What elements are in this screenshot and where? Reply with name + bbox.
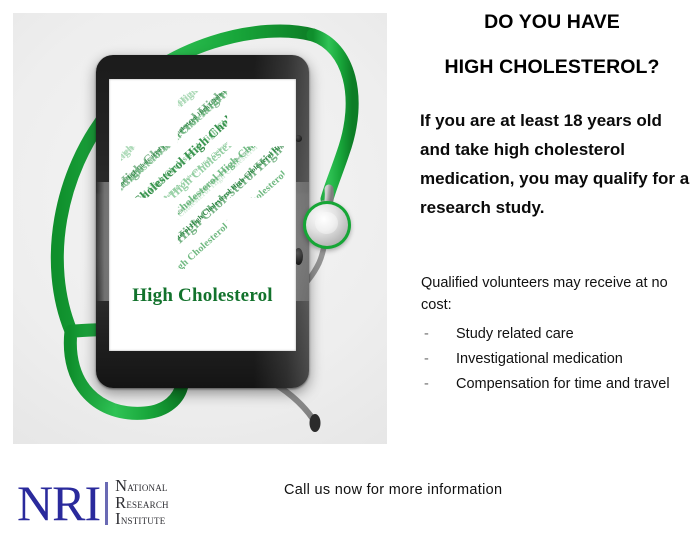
stethoscope-earpiece (310, 414, 321, 432)
stethoscope-chestpiece (303, 201, 351, 249)
headline-line-1: DO YOU HAVE (404, 11, 700, 34)
logo-word-institute: Institute (115, 511, 169, 528)
headline-line-2: HIGH CHOLESTEROL? (404, 56, 700, 79)
logo-divider (105, 482, 108, 525)
chestpiece-dome (315, 212, 337, 234)
word-cloud-cross-clip: High Cholesterol High Cholesterol High C… (121, 91, 285, 269)
tablet-camera-dot (295, 135, 302, 142)
call-to-action-text: Call us now for more information (284, 482, 502, 498)
poster-copy: DO YOU HAVE HIGH CHOLESTEROL? If you are… (404, 0, 700, 460)
benefit-label: Compensation for time and travel (456, 376, 670, 392)
benefits-subheading: Qualified volunteers may receive at no c… (421, 272, 696, 316)
benefits-list: -Study related care-Investigational medi… (421, 322, 696, 397)
benefit-item: -Compensation for time and travel (421, 372, 696, 397)
benefit-dash-icon: - (424, 372, 429, 397)
logo-wordmark: National Research Institute (115, 478, 169, 528)
tablet-device: High Cholesterol High Cholesterol High C… (96, 55, 309, 388)
screen-caption: High Cholesterol (109, 285, 296, 307)
benefit-dash-icon: - (424, 347, 429, 372)
benefit-dash-icon: - (424, 322, 429, 347)
benefit-label: Study related care (456, 326, 574, 342)
tablet-screen: High Cholesterol High Cholesterol High C… (109, 79, 296, 351)
nri-logo: NRI National Research Institute (17, 474, 169, 532)
stethoscope-right-loop (313, 35, 352, 199)
word-cloud-cross: High Cholesterol High Cholesterol High C… (121, 91, 285, 269)
hero-image-panel: High Cholesterol High Cholesterol High C… (13, 13, 387, 444)
benefit-label: Investigational medication (456, 351, 623, 367)
logo-word-research: Research (115, 495, 169, 512)
logo-monogram: NRI (17, 478, 100, 528)
benefit-item: -Investigational medication (421, 347, 696, 372)
benefit-item: -Study related care (421, 322, 696, 347)
eligibility-statement: If you are at least 18 years old and tak… (420, 106, 694, 222)
